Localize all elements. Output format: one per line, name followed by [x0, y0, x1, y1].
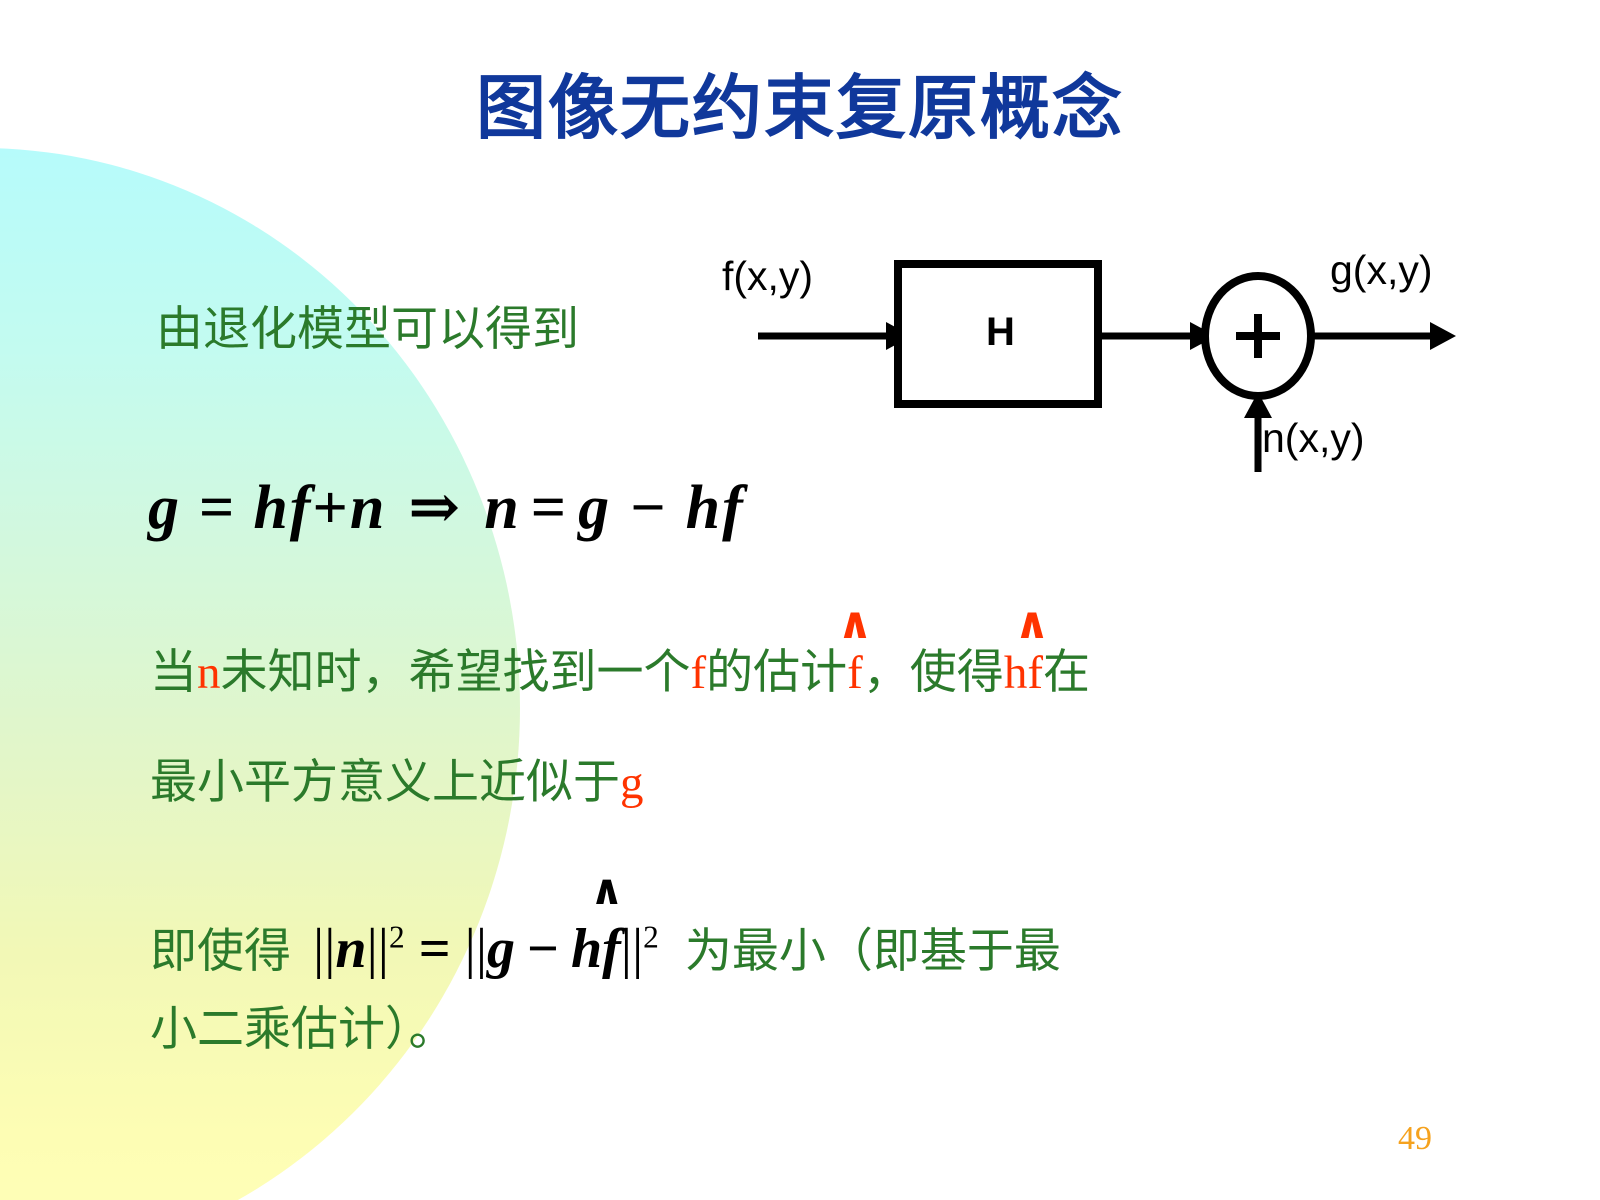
norm-equals: =	[405, 918, 465, 980]
diagram-input-label: f(x,y)	[722, 256, 813, 297]
para1-symbol-hf: hf	[1004, 647, 1043, 699]
page-number: 49	[1398, 1120, 1432, 1158]
equation-implies: ⇒	[386, 474, 484, 542]
norm-minus: −	[515, 918, 571, 980]
equation-rhs: g − hf	[578, 474, 745, 542]
diagram-system-label: H	[986, 312, 1015, 352]
least-squares-row: 即使得 ||n||2=||g−∧hf||2 为最小（即基于最	[150, 912, 1061, 981]
para1-symbol-n: n	[197, 647, 221, 699]
equation-plus: +	[312, 474, 349, 542]
hat-icon: ∧	[837, 602, 873, 646]
bottom-prefix-label: 即使得	[150, 912, 291, 981]
slide-canvas: 图像无约束复原概念 由退化模型可以得到 f(x,y) g(x,y)	[0, 0, 1600, 1200]
estimate-paragraph-line1: 当n未知时，希望找到一个f的估计∧f，使得∧hf在	[150, 648, 1090, 697]
para2-seg-a: 最小平方意义上近似于	[150, 755, 620, 808]
norm-equation: ||n||2=||g−∧hf||2	[313, 917, 659, 981]
estimate-paragraph-line2: 最小平方意义上近似于g	[150, 758, 644, 807]
diagram-noise-label: n(x,y)	[1262, 418, 1365, 459]
para2-symbol-g: g	[620, 757, 644, 809]
norm-exponent-a: 2	[389, 919, 405, 954]
norm-bar-close: ||	[367, 918, 389, 980]
equation-rhs-lhs: n	[484, 474, 520, 542]
output-arrow-head	[1430, 322, 1456, 350]
hat-icon: ∧	[1014, 602, 1050, 646]
degradation-block-diagram: f(x,y) g(x,y) n(x,y) H	[700, 240, 1460, 490]
norm-exponent-b: 2	[643, 919, 659, 954]
norm-symbol-n: n	[335, 918, 366, 980]
para1-hf-hat-group: ∧hf	[1004, 648, 1043, 697]
norm-symbol-hf: hf	[571, 918, 621, 980]
equation-equals: =	[521, 474, 578, 542]
page-title: 图像无约束复原概念	[0, 72, 1600, 146]
norm-hf-hat-group: ∧hf	[571, 917, 621, 981]
para1-seg-a: 当	[150, 645, 197, 698]
para1-seg-d: ，使得	[863, 645, 1004, 698]
para1-seg-b: 未知时，希望找到一个	[221, 645, 691, 698]
intro-text: 由退化模型可以得到	[156, 305, 579, 352]
para1-symbol-f-hat: f	[847, 647, 863, 699]
norm-bar-open-2: ||	[465, 918, 487, 980]
hat-icon: ∧	[590, 869, 624, 911]
para1-seg-e: 在	[1043, 645, 1090, 698]
diagram-output-label: g(x,y)	[1330, 250, 1433, 291]
norm-symbol-g: g	[487, 918, 515, 980]
bottom-tail-label: 小二乘估计）。	[150, 990, 456, 1059]
equation-lhs: g = hf	[148, 474, 312, 542]
degradation-equation: g = hf+n⇒n=g − hf	[148, 470, 745, 544]
para1-symbol-f: f	[691, 647, 707, 699]
equation-noise: n	[350, 474, 386, 542]
para1-f-hat-group: ∧f	[847, 648, 863, 697]
para1-seg-c: 的估计	[706, 645, 847, 698]
norm-bar-open: ||	[313, 918, 335, 980]
bottom-suffix-label: 为最小（即基于最	[685, 912, 1061, 981]
norm-bar-close-2: ||	[621, 918, 643, 980]
